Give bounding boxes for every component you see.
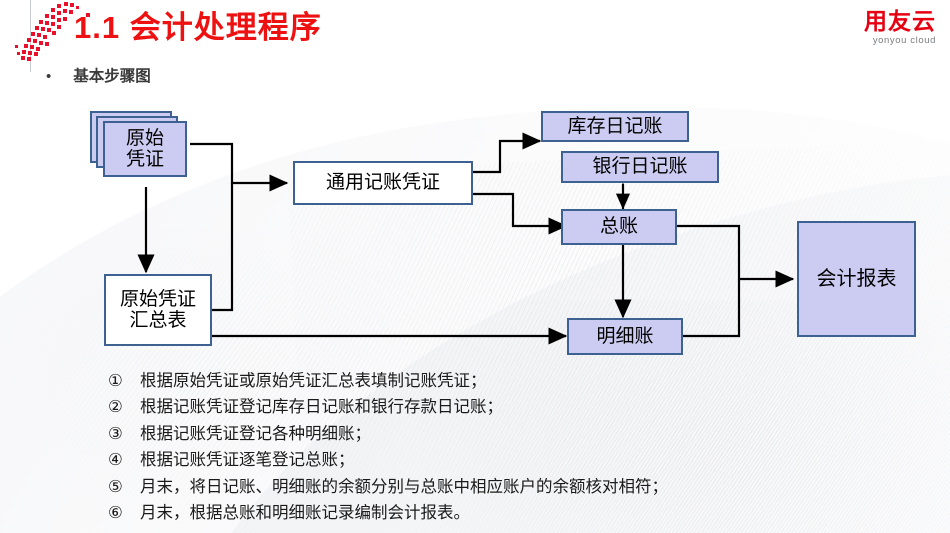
list-item-number: ④ <box>108 447 140 473</box>
list-item-text: 根据记账凭证登记库存日记账和银行存款日记账； <box>140 394 503 420</box>
steps-list: ① 根据原始凭证或原始凭证汇总表填制记账凭证； ② 根据记账凭证登记库存日记账和… <box>108 368 668 526</box>
list-item: ⑤ 月末，将日记账、明细账的余额分别与总账中相应账户的余额核对相符； <box>108 474 668 500</box>
slide-canvas: 1.1 会计处理程序 用友云 yonyou cloud • 基本步骤图 <box>0 0 950 533</box>
list-item-text: 根据原始凭证或原始凭证汇总表填制记账凭证； <box>140 368 487 394</box>
node-general-ledger[interactable]: 总账 <box>561 209 677 245</box>
list-item-text: 月末，根据总账和明细账记录编制会计报表。 <box>140 500 470 526</box>
list-item-number: ① <box>108 368 140 394</box>
node-bank-journal[interactable]: 银行日记账 <box>561 151 719 183</box>
list-item: ⑥ 月末，根据总账和明细账记录编制会计报表。 <box>108 500 668 526</box>
list-item-text: 根据记账凭证逐笔登记总账； <box>140 447 355 473</box>
node-general-journal-voucher[interactable]: 通用记账凭证 <box>293 161 473 205</box>
list-item: ③ 根据记账凭证登记各种明细账； <box>108 421 668 447</box>
list-item-number: ⑥ <box>108 500 140 526</box>
list-item: ② 根据记账凭证登记库存日记账和银行存款日记账； <box>108 394 668 420</box>
list-item-number: ③ <box>108 421 140 447</box>
list-item: ④ 根据记账凭证逐笔登记总账； <box>108 447 668 473</box>
node-cash-journal[interactable]: 库存日记账 <box>541 111 689 142</box>
list-item-text: 根据记账凭证登记各种明细账； <box>140 421 371 447</box>
list-item: ① 根据原始凭证或原始凭证汇总表填制记账凭证； <box>108 368 668 394</box>
node-financial-statements[interactable]: 会计报表 <box>797 221 916 337</box>
node-subsidiary-ledger[interactable]: 明细账 <box>567 318 683 355</box>
node-voucher-summary[interactable]: 原始凭证 汇总表 <box>104 274 212 346</box>
list-item-text: 月末，将日记账、明细账的余额分别与总账中相应账户的余额核对相符； <box>140 474 668 500</box>
list-item-number: ② <box>108 394 140 420</box>
list-item-number: ⑤ <box>108 474 140 500</box>
node-original-voucher[interactable]: 原始 凭证 <box>103 121 187 177</box>
